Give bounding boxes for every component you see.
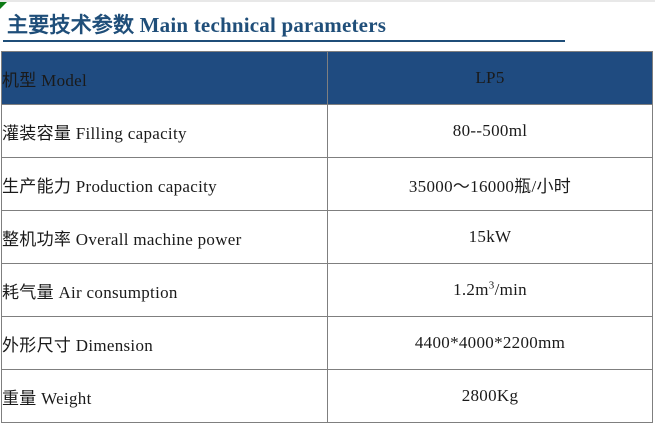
row-label-dimension: 外形尺寸 Dimension — [2, 317, 328, 370]
row-label-air-consumption: 耗气量 Air consumption — [2, 264, 328, 317]
table-header-value: LP5 — [328, 52, 653, 105]
air-consumption-suffix: /min — [495, 280, 527, 299]
row-value-air-consumption: 1.2m3/min — [328, 264, 653, 317]
row-value-dimension: 4400*4000*2200mm — [328, 317, 653, 370]
row-value-overall-machine-power: 15kW — [328, 211, 653, 264]
table-row: 耗气量 Air consumption 1.2m3/min — [2, 264, 653, 317]
table-row: 生产能力 Production capacity 35000～16000瓶/小时 — [2, 158, 653, 211]
table-row: 整机功率 Overall machine power 15kW — [2, 211, 653, 264]
air-consumption-prefix: 1.2m — [453, 280, 489, 299]
row-label-production-capacity: 生产能力 Production capacity — [2, 158, 328, 211]
table-row: 灌装容量 Filling capacity 80--500ml — [2, 105, 653, 158]
technical-parameters-table: 机型 Model LP5 灌装容量 Filling capacity 80--5… — [1, 51, 653, 423]
row-value-filling-capacity: 80--500ml — [328, 105, 653, 158]
page-title: 主要技术参数 Main technical parameters — [7, 12, 386, 38]
table-row: 重量 Weight 2800Kg — [2, 370, 653, 423]
table-header-label: 机型 Model — [2, 52, 328, 105]
row-value-production-capacity: 35000～16000瓶/小时 — [328, 158, 653, 211]
title-underline-rule — [3, 40, 565, 42]
table-row: 外形尺寸 Dimension 4400*4000*2200mm — [2, 317, 653, 370]
cell-error-marker-icon — [0, 2, 7, 9]
table-body: 机型 Model LP5 灌装容量 Filling capacity 80--5… — [2, 52, 653, 423]
row-label-overall-machine-power: 整机功率 Overall machine power — [2, 211, 328, 264]
page-title-area: 主要技术参数 Main technical parameters — [7, 12, 567, 38]
row-label-weight: 重量 Weight — [2, 370, 328, 423]
top-hairline — [0, 0, 655, 2]
row-value-weight: 2800Kg — [328, 370, 653, 423]
row-label-filling-capacity: 灌装容量 Filling capacity — [2, 105, 328, 158]
table-header-row: 机型 Model LP5 — [2, 52, 653, 105]
